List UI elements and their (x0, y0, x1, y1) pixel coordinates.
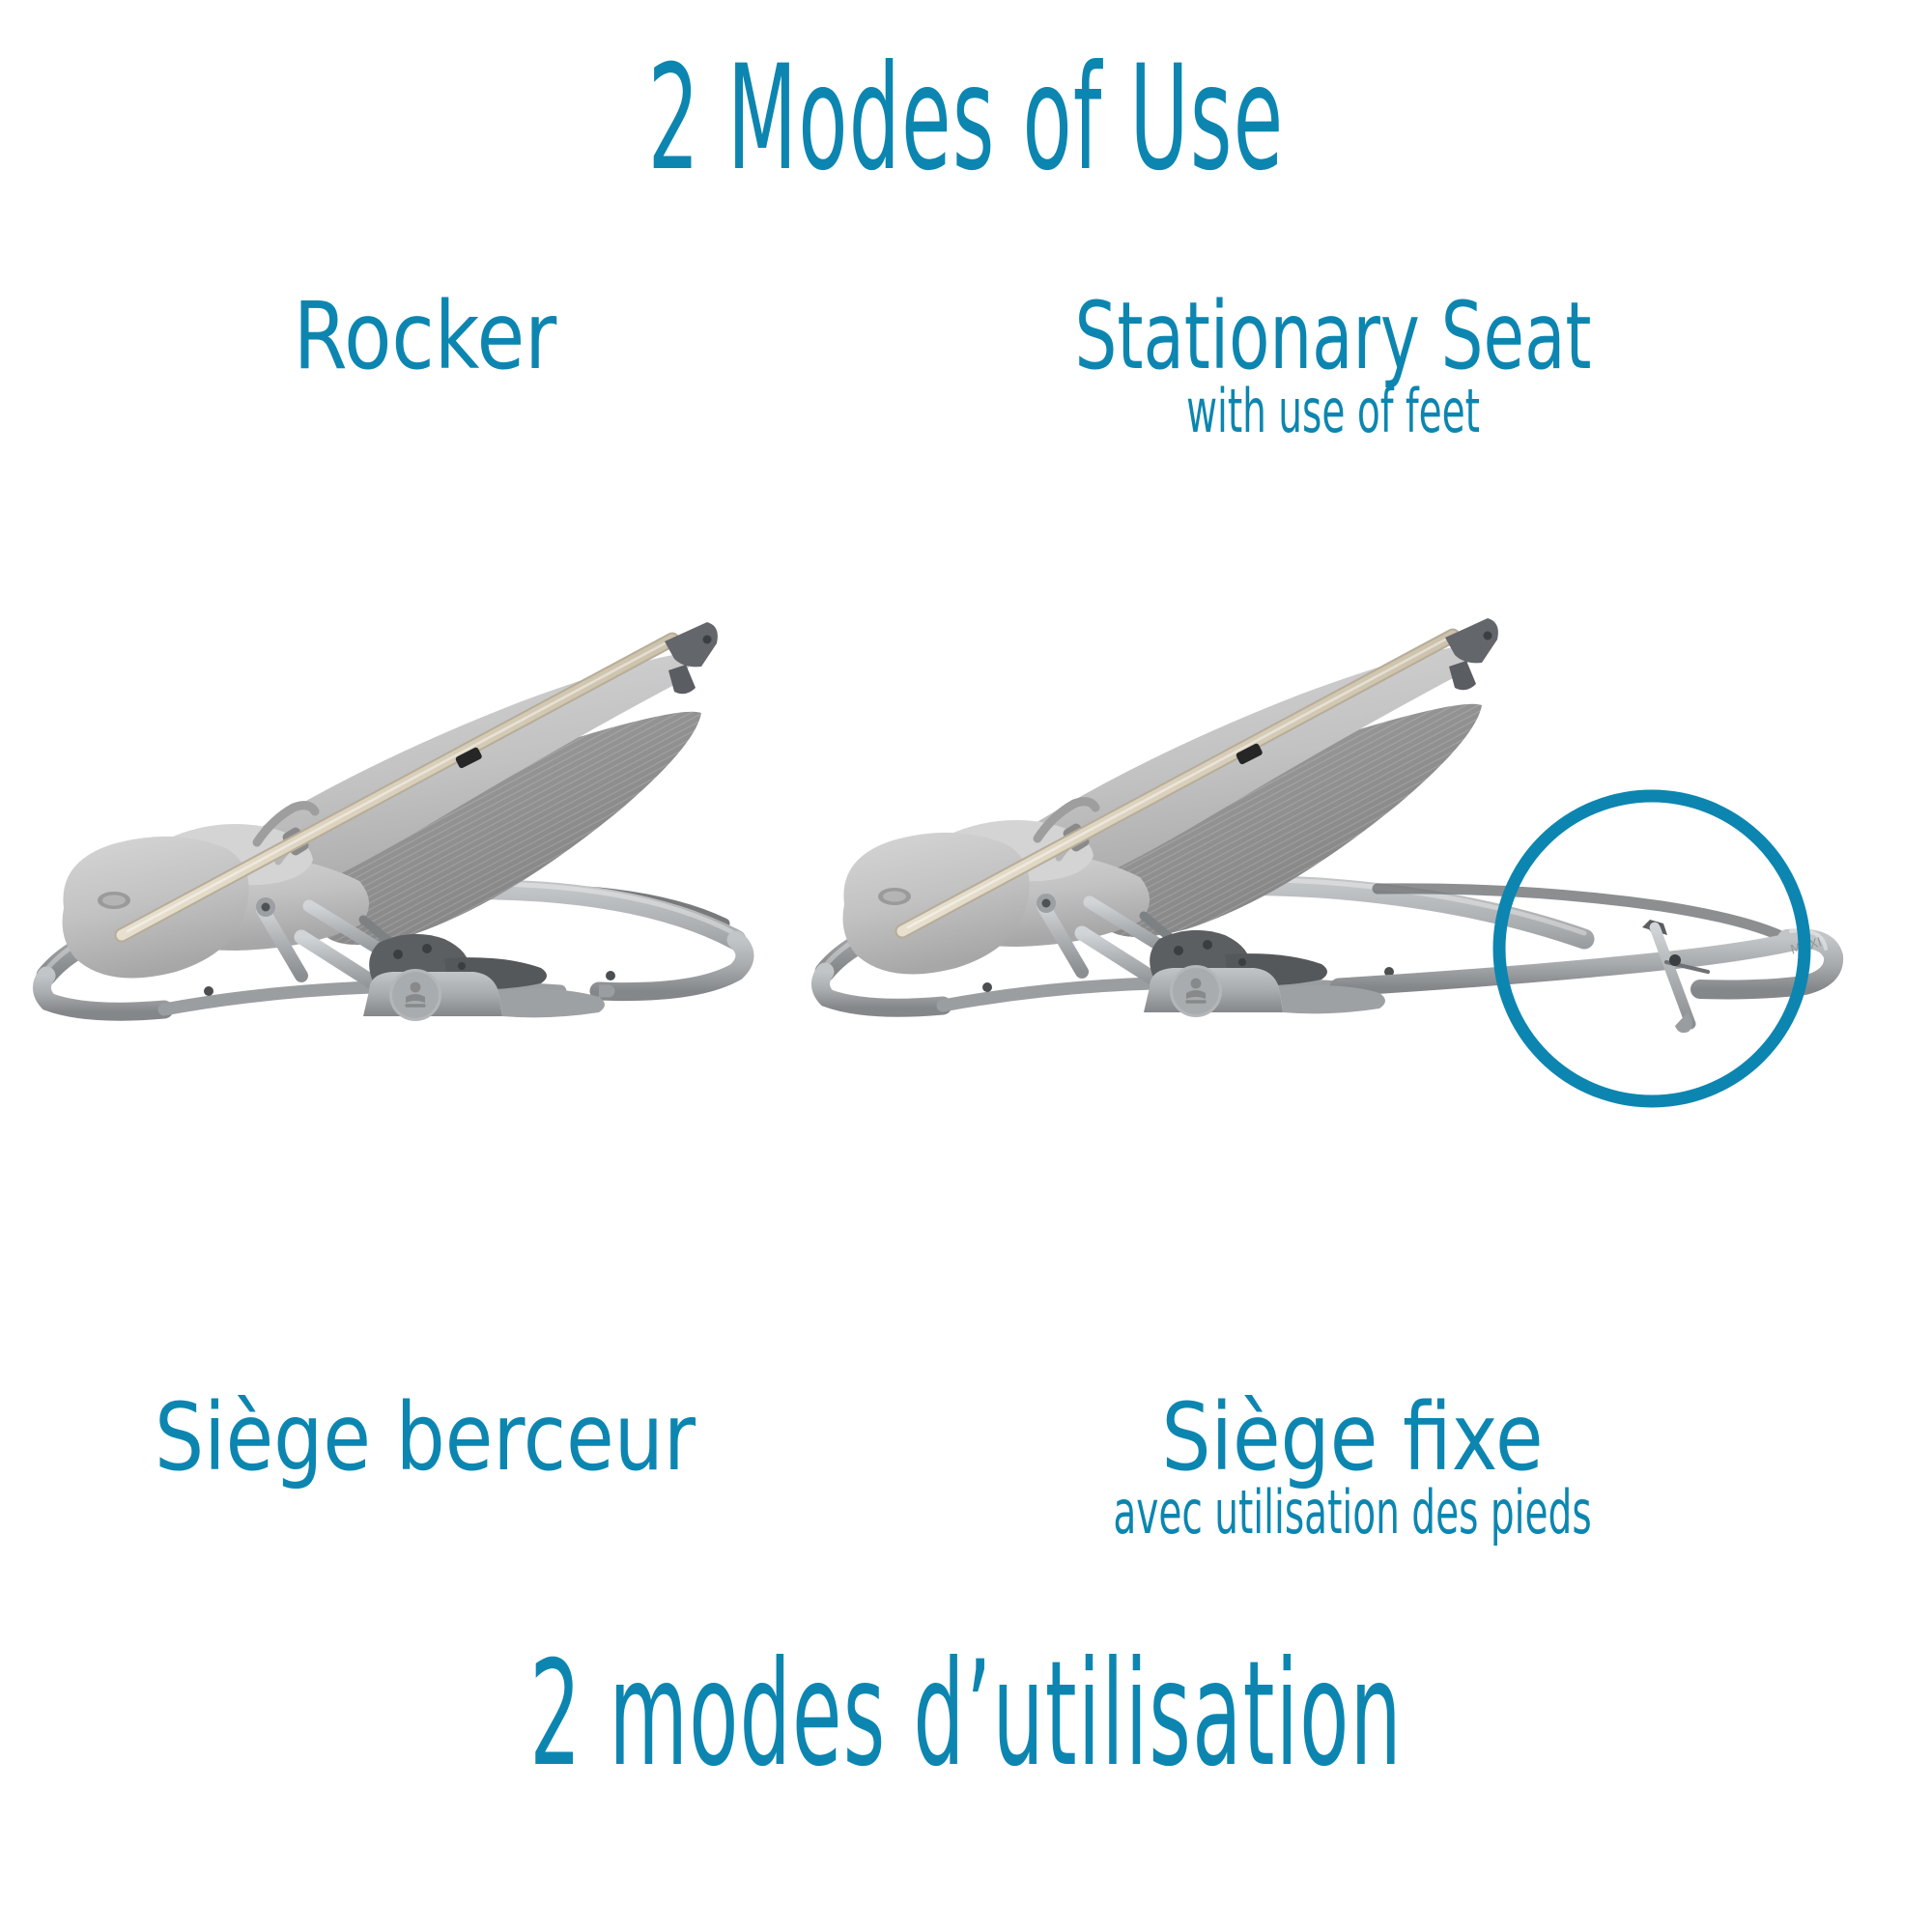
product-image-stationary-seat: MAXI (792, 502, 1932, 1063)
page-title-en: 2 Modes of Use (367, 46, 1565, 191)
mode-label-stationary-en: Stationary Seat (900, 290, 1766, 384)
product-image-rocker (19, 522, 792, 1063)
mode-footer-rocker: Siège berceur (29, 1391, 821, 1486)
mode-header-stationary: Stationary Seat with use of feet (792, 290, 1874, 441)
mode-label-rocker-fr: Siège berceur (93, 1391, 758, 1486)
mode-footer-stationary: Siège fixe avec utilisation des pieds (802, 1391, 1903, 1543)
mode-sublabel-stationary-fr: avec utilisation des pieds (967, 1482, 1738, 1543)
mode-header-rocker: Rocker (58, 290, 792, 384)
mode-sublabel-stationary-en: with use of feet (954, 381, 1712, 441)
mode-label-stationary-fr: Siège fixe (890, 1391, 1815, 1486)
infographic-page: 2 Modes of Use Rocker Stationary Seat wi… (0, 0, 1932, 1932)
mode-label-rocker-en: Rocker (117, 290, 733, 384)
page-title-fr: 2 modes d’utilisation (367, 1642, 1565, 1787)
